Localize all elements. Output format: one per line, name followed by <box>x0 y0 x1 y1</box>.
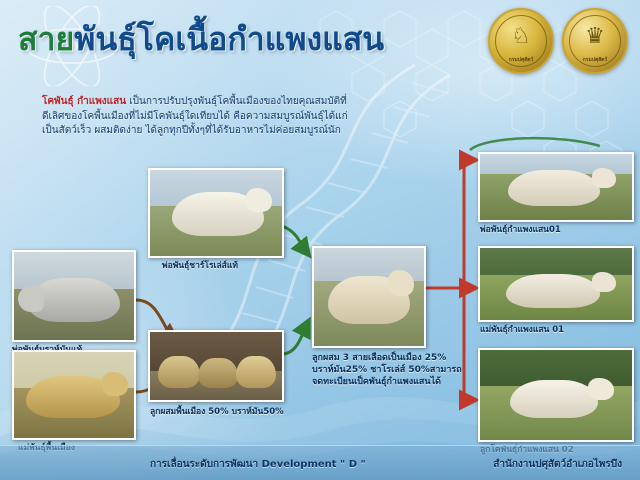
seal-left-label: กรมปศุสัตว์ <box>509 56 533 64</box>
footer-office-label: สำนักงานปศุสัตว์อำเภอไพรบึง <box>493 457 622 472</box>
photo-animal <box>506 274 600 308</box>
photo-treeline <box>480 248 632 275</box>
photo-kps02-calf <box>478 348 634 442</box>
photo-f1-bull <box>312 246 426 348</box>
caption-kps01-dam: แม่พันธุ์กำแพงแสน 01 <box>480 322 564 336</box>
photo-animal <box>508 170 600 206</box>
photo-animal <box>510 380 598 418</box>
photo-native-dam <box>12 350 136 440</box>
note-three-breed-cross: ลูกผสม 3 สายเลือดเป็นเมือง 25% บราห์มัน2… <box>312 352 462 388</box>
photo-animal-head <box>18 286 44 312</box>
photo-animal-head <box>246 188 272 212</box>
photo-animal-head <box>592 168 616 188</box>
photo-animal-head <box>592 272 616 292</box>
photo-animal-head <box>102 372 128 396</box>
seal-right-ring: กรมปศุสัตว์ <box>569 15 621 67</box>
seal-right-label: กรมปศุสัตว์ <box>583 56 607 64</box>
page-title-accent: สาย <box>18 20 74 58</box>
page-title-main: พันธุ์โคเนื้อกำแพงแสน <box>74 20 384 58</box>
footer-development-label: การเลื่อนระดับการพัฒนา Development " D " <box>150 457 366 472</box>
photo-animal <box>158 356 200 388</box>
photo-animal-head <box>388 270 414 296</box>
photo-brahman-sire <box>12 250 136 342</box>
photo-animal-head <box>588 378 614 400</box>
caption-crossbred-50: ลูกผสมพื้นเมือง 50% บราห์มัน50% <box>150 404 284 418</box>
caption-kps01-sire: พ่อพันธุ์กำแพงแสน01 <box>480 222 561 236</box>
photo-animal <box>236 356 276 388</box>
photo-animal <box>198 358 238 388</box>
photo-crossbred-50 <box>148 330 284 402</box>
photo-kps01-sire <box>478 152 634 222</box>
page-title: สายพันธุ์โคเนื้อกำแพงแสน <box>18 14 384 65</box>
caption-charolais-sire: พ่อพันธุ์ชาร์โรเล่ส์แท้ <box>162 258 238 272</box>
photo-charolais-sire <box>148 168 284 258</box>
poster-canvas: สายพันธุ์โคเนื้อกำแพงแสน ♘ กรมปศุสัตว์ ♛… <box>0 0 640 480</box>
seal-left-ring: กรมปศุสัตว์ <box>495 15 547 67</box>
intro-paragraph: โคพันธุ์ กำแพงแสน เป็นการปรับปรุงพันธุ์โ… <box>42 95 352 139</box>
intro-highlight: โคพันธุ์ กำแพงแสน <box>42 96 126 107</box>
emblem-seal-right: ♛ กรมปศุสัตว์ <box>562 8 628 74</box>
emblem-seal-left: ♘ กรมปศุสัตว์ <box>488 8 554 74</box>
photo-kps01-dam <box>478 246 634 322</box>
